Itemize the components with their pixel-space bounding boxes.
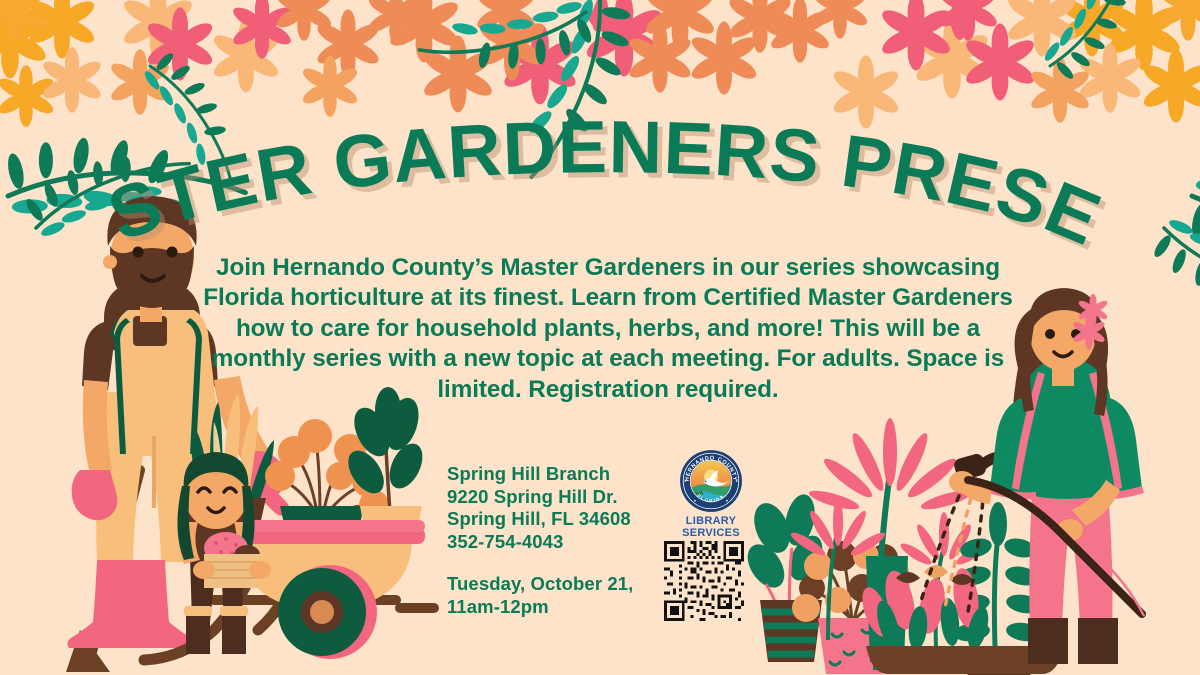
venue-street: 9220 Spring Hill Dr. <box>447 486 633 509</box>
venue-city-state-zip: Spring Hill, FL 34608 <box>447 508 633 531</box>
event-time: 11am-12pm <box>447 596 633 619</box>
qr-code-icon[interactable] <box>661 538 747 624</box>
venue-name: Spring Hill Branch <box>447 463 633 486</box>
event-details: Spring Hill Branch 9220 Spring Hill Dr. … <box>447 463 633 619</box>
poster-canvas: MASTER GARDENERS PRESENT MASTER GARDENER… <box>0 0 1200 675</box>
county-seal-icon: HERNANDO COUNTY FLORIDA <box>679 449 743 513</box>
info-spacer <box>447 553 633 573</box>
hernando-county-logo: HERNANDO COUNTY FLORIDA LIBRARY SERVICES <box>658 449 764 539</box>
venue-phone: 352-754-4043 <box>447 531 633 554</box>
event-date: Tuesday, October 21, <box>447 573 633 596</box>
page-title: MASTER GARDENERS PRESENT MASTER GARDENER… <box>0 118 1200 268</box>
description-text: Join Hernando County’s Master Gardeners … <box>196 253 1020 405</box>
registration-qr-code[interactable] <box>661 538 747 624</box>
logo-caption: LIBRARY SERVICES <box>658 515 764 539</box>
